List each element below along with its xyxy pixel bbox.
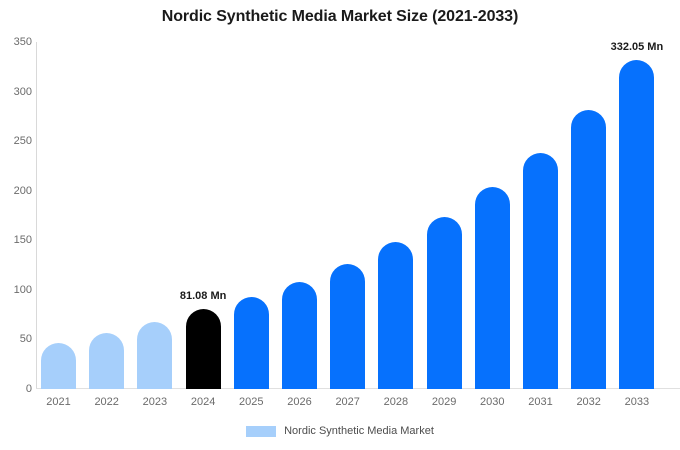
bar-value-label-2033: 332.05 Mn	[605, 41, 669, 53]
bar-rect	[89, 333, 124, 390]
bar-rect	[523, 153, 558, 389]
bar-2033[interactable]	[619, 60, 654, 389]
bar-rect	[282, 282, 317, 389]
y-tick-label: 200	[2, 185, 32, 197]
chart-legend: Nordic Synthetic Media Market	[0, 425, 680, 437]
bar-rect	[571, 110, 606, 389]
bar-2028[interactable]	[378, 242, 413, 389]
bar-rect	[475, 187, 510, 389]
bar-2030[interactable]	[475, 187, 510, 389]
bar-2027[interactable]	[330, 264, 365, 389]
bar-rect	[619, 60, 654, 389]
y-tick-label: 0	[2, 383, 32, 395]
bar-2031[interactable]	[523, 153, 558, 389]
y-tick-label: 50	[2, 333, 32, 345]
bar-rect	[330, 264, 365, 389]
bar-2021[interactable]	[41, 343, 76, 389]
bar-2025[interactable]	[234, 297, 269, 389]
bar-2026[interactable]	[282, 282, 317, 389]
bar-2032[interactable]	[571, 110, 606, 389]
bar-rect	[186, 309, 221, 389]
legend-label-nordic-synthetic-media-market: Nordic Synthetic Media Market	[284, 425, 434, 437]
x-tick-label-2033: 2033	[607, 396, 667, 408]
y-axis-tick-labels: 050100150200250300350	[0, 0, 32, 450]
bar-2023[interactable]	[137, 322, 172, 389]
bar-rect	[427, 217, 462, 390]
bar-2024[interactable]	[186, 309, 221, 389]
y-axis-line	[36, 42, 37, 389]
bar-rect	[234, 297, 269, 389]
bar-value-label-2024: 81.08 Mn	[171, 290, 235, 302]
bar-2029[interactable]	[427, 217, 462, 390]
y-tick-label: 300	[2, 86, 32, 98]
y-tick-label: 150	[2, 234, 32, 246]
y-tick-label: 350	[2, 36, 32, 48]
bar-2022[interactable]	[89, 333, 124, 390]
bar-rect	[41, 343, 76, 389]
y-tick-label: 100	[2, 284, 32, 296]
chart-title: Nordic Synthetic Media Market Size (2021…	[0, 8, 680, 26]
bar-chart: Nordic Synthetic Media Market Size (2021…	[0, 0, 680, 450]
legend-swatch-nordic-synthetic-media-market	[246, 426, 276, 437]
y-tick-label: 250	[2, 135, 32, 147]
bar-rect	[378, 242, 413, 389]
bar-rect	[137, 322, 172, 389]
